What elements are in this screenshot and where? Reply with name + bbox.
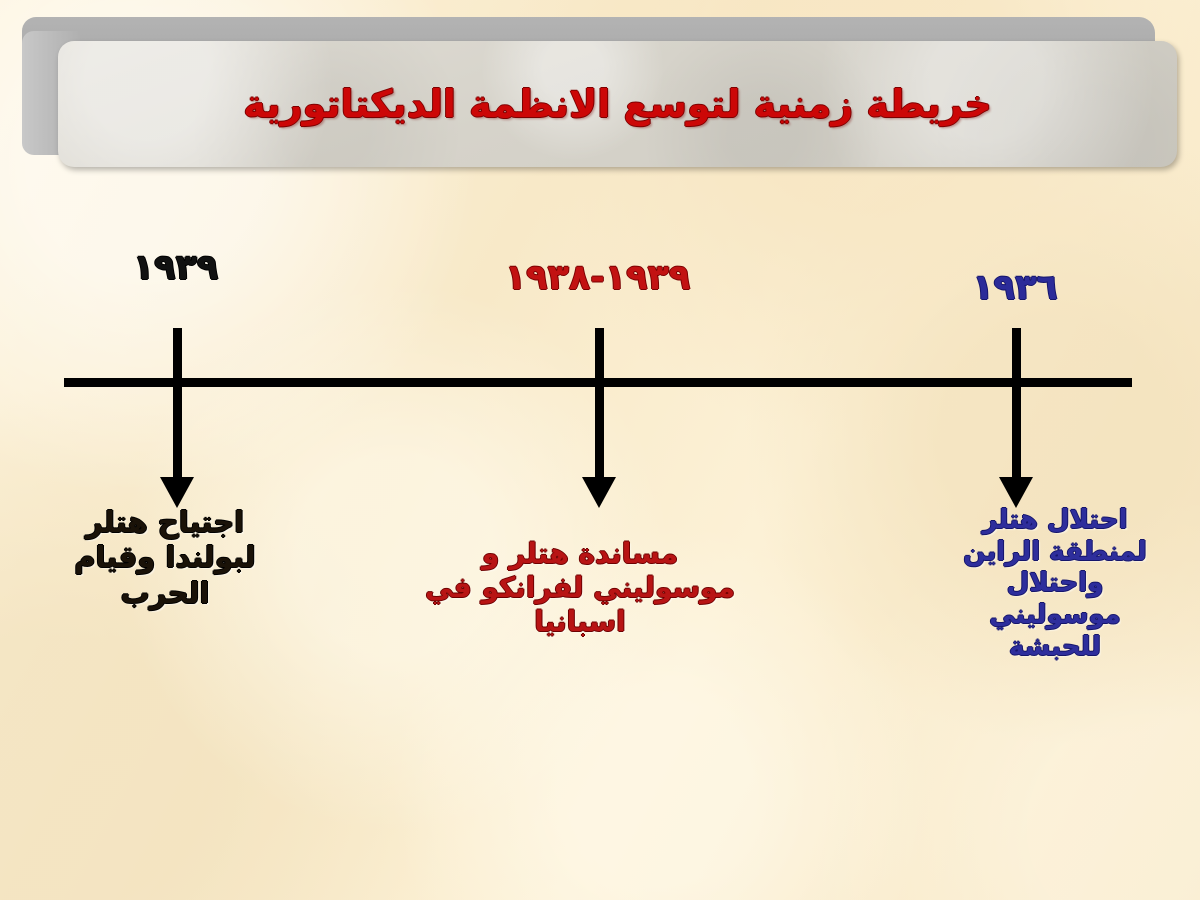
year-label-event-1938-1939: ١٩٣٩-١٩٣٨: [460, 258, 735, 298]
caption-event-1936: احتلال هتلر لمنطقة الراين واحتلال موسولي…: [935, 505, 1175, 664]
caption-line: واحتلال: [935, 568, 1175, 600]
caption-line: موسوليني لفرانكو في: [365, 571, 795, 605]
timeline-arrow-event-1939: [173, 328, 182, 478]
title-plaque: خريطة زمنية لتوسع الانظمة الديكتاتورية: [22, 17, 1162, 160]
year-label-event-1936: ١٩٣٦: [925, 268, 1105, 308]
caption-event-1939: اجتياح هتلر لبولندا وقيام الحرب: [20, 505, 310, 611]
caption-line: لمنطقة الراين: [935, 537, 1175, 569]
caption-line: موسوليني: [935, 600, 1175, 632]
slide-canvas: خريطة زمنية لتوسع الانظمة الديكتاتورية ١…: [0, 0, 1200, 900]
caption-event-1938-1939: مساندة هتلر و موسوليني لفرانكو في اسباني…: [365, 537, 795, 639]
caption-line: للحبشة: [935, 632, 1175, 664]
timeline-arrow-event-1936: [1012, 328, 1021, 478]
timeline-arrow-event-1938-1939: [595, 328, 604, 478]
caption-line: لبولندا وقيام: [20, 540, 310, 575]
arrowhead-icon: [160, 477, 194, 508]
caption-line: اجتياح هتلر: [20, 505, 310, 540]
caption-line: مساندة هتلر و: [365, 537, 795, 571]
arrowhead-icon: [582, 477, 616, 508]
caption-line: احتلال هتلر: [935, 505, 1175, 537]
plaque-face: خريطة زمنية لتوسع الانظمة الديكتاتورية: [58, 41, 1177, 167]
year-label-event-1939: ١٩٣٩: [78, 248, 273, 288]
caption-line: اسبانيا: [365, 605, 795, 639]
page-title: خريطة زمنية لتوسع الانظمة الديكتاتورية: [243, 82, 991, 126]
caption-line: الحرب: [20, 576, 310, 611]
arrowhead-icon: [999, 477, 1033, 508]
